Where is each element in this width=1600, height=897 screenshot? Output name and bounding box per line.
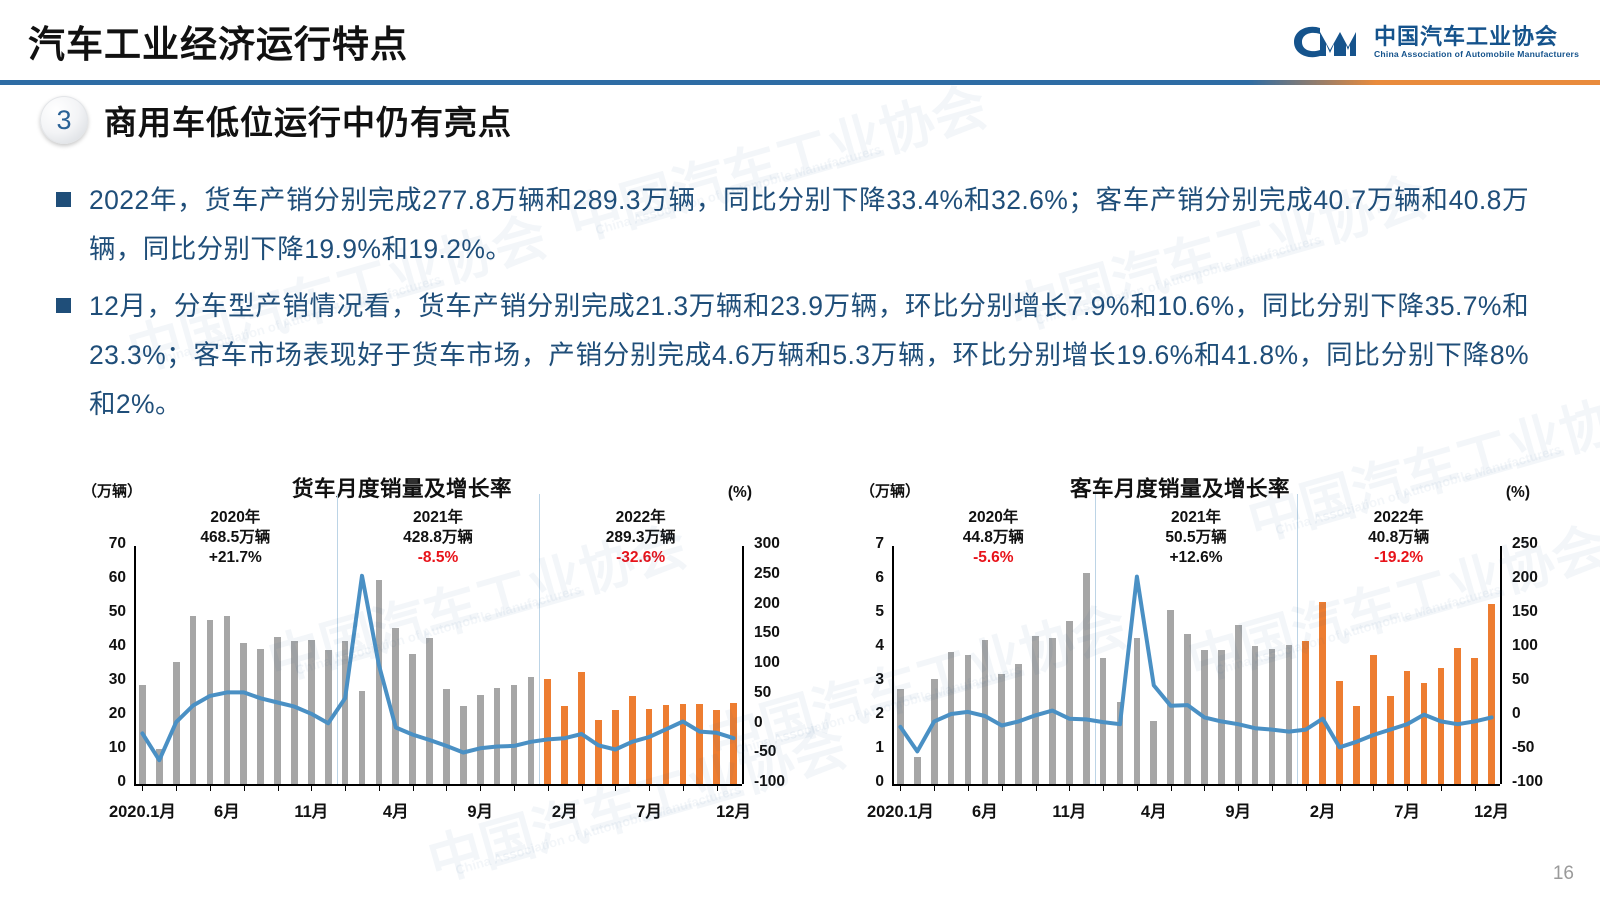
section-number-badge: 3 <box>40 96 88 144</box>
annotation-growth: +12.6% <box>1116 548 1276 568</box>
annotation-growth: -8.5% <box>358 548 518 568</box>
annotation-year: 2020年 <box>155 508 315 528</box>
x-axis-tick <box>480 785 481 791</box>
y-axis-tick-label: 3 <box>840 671 884 689</box>
x-axis-tick <box>1171 785 1172 791</box>
y2-axis-tick-label: -50 <box>1512 739 1568 757</box>
year-annotation: 2022年40.8万辆-19.2% <box>1319 508 1479 567</box>
caam-logo: 中国汽车工业协会 China Association of Automobile… <box>1290 12 1580 72</box>
chart-left-unit-label: （万辆） <box>860 480 920 501</box>
x-axis-tick <box>176 785 177 791</box>
year-annotation: 2022年289.3万辆-32.6% <box>561 508 721 567</box>
annotation-year: 2020年 <box>913 508 1073 528</box>
x-axis-line <box>892 784 1500 786</box>
logo-chinese-name: 中国汽车工业协会 <box>1374 25 1579 48</box>
x-axis-label: 12月 <box>1432 798 1552 822</box>
y-axis-tick-label: 6 <box>840 569 884 587</box>
growth-rate-line-series <box>892 546 1500 784</box>
x-axis-tick <box>934 785 935 791</box>
x-axis-tick <box>1441 785 1442 791</box>
x-axis-tick <box>900 785 901 791</box>
caam-logo-mark <box>1290 20 1364 64</box>
bullet-marker-icon <box>56 298 71 313</box>
bullet-text: 12月，分车型产销情况看，货车产销分别完成21.3万辆和23.9万辆，环比分别增… <box>89 282 1529 429</box>
chart-right-unit-label: (%) <box>728 484 752 502</box>
annotation-total: 468.5万辆 <box>155 528 315 548</box>
list-item: 12月，分车型产销情况看，货车产销分别完成21.3万辆和23.9万辆，环比分别增… <box>56 282 1556 429</box>
list-item: 2022年，货车产销分别完成277.8万辆和289.3万辆，同比分别下降33.4… <box>56 176 1556 274</box>
x-axis-tick <box>649 785 650 791</box>
page-number: 16 <box>1553 863 1574 885</box>
x-axis-tick <box>582 785 583 791</box>
x-axis-tick <box>311 785 312 791</box>
year-annotation: 2021年428.8万辆-8.5% <box>358 508 518 567</box>
y2-axis-tick-label: 200 <box>1512 569 1568 587</box>
y2-axis-line <box>1500 546 1502 784</box>
y-axis-tick-label: 2 <box>840 705 884 723</box>
annotation-growth: -5.6% <box>913 548 1073 568</box>
annotation-total: 50.5万辆 <box>1116 528 1276 548</box>
annotation-year: 2022年 <box>561 508 721 528</box>
chart-bus-monthly-sales: 客车月度销量及增长率（万辆）(%)01234567-100-5005010015… <box>800 468 1560 840</box>
page-title: 汽车工业经济运行特点 <box>28 14 408 68</box>
y-axis-tick-label: 50 <box>82 603 126 621</box>
x-axis-tick <box>345 785 346 791</box>
x-axis-tick <box>615 785 616 791</box>
x-axis-tick <box>968 785 969 791</box>
x-axis-tick <box>1238 785 1239 791</box>
x-axis-tick <box>1069 785 1070 791</box>
x-axis-tick <box>1407 785 1408 791</box>
annotation-year: 2022年 <box>1319 508 1479 528</box>
y2-axis-tick-label: 100 <box>1512 637 1568 655</box>
y2-axis-tick-label: 0 <box>1512 705 1568 723</box>
x-axis-tick <box>1137 785 1138 791</box>
x-axis-tick <box>244 785 245 791</box>
y-axis-tick-label: 7 <box>840 535 884 553</box>
y-axis-tick-label: 0 <box>840 773 884 791</box>
y2-axis-line <box>742 546 744 784</box>
x-axis-tick <box>548 785 549 791</box>
x-axis-tick <box>379 785 380 791</box>
x-axis-tick <box>413 785 414 791</box>
x-axis-tick <box>210 785 211 791</box>
x-axis-line <box>134 784 742 786</box>
y-axis-tick-label: 30 <box>82 671 126 689</box>
annotation-total: 40.8万辆 <box>1319 528 1479 548</box>
x-axis-tick <box>1002 785 1003 791</box>
chart-left-unit-label: （万辆） <box>82 480 142 501</box>
bullet-text: 2022年，货车产销分别完成277.8万辆和289.3万辆，同比分别下降33.4… <box>89 176 1529 274</box>
y-axis-tick-label: 10 <box>82 739 126 757</box>
bullet-list: 2022年，货车产销分别完成277.8万辆和289.3万辆，同比分别下降33.4… <box>56 176 1556 437</box>
chart-right-unit-label: (%) <box>1506 484 1530 502</box>
y2-axis-tick-label: -100 <box>1512 773 1568 791</box>
x-axis-tick <box>1373 785 1374 791</box>
y-axis-tick-label: 70 <box>82 535 126 553</box>
x-axis-tick <box>1204 785 1205 791</box>
y-axis-tick-label: 1 <box>840 739 884 757</box>
y2-axis-tick-label: 250 <box>1512 535 1568 553</box>
x-axis-label: 12月 <box>674 798 794 822</box>
annotation-growth: -32.6% <box>561 548 721 568</box>
x-axis-tick <box>1036 785 1037 791</box>
section-heading: 3 商用车低位运行中仍有亮点 <box>40 96 512 144</box>
x-axis-tick <box>514 785 515 791</box>
annotation-total: 44.8万辆 <box>913 528 1073 548</box>
y-axis-tick-label: 60 <box>82 569 126 587</box>
chart-truck-monthly-sales: 货车月度销量及增长率（万辆）(%)010203040506070-100-500… <box>22 468 782 840</box>
y2-axis-tick-label: 150 <box>1512 603 1568 621</box>
annotation-growth: +21.7% <box>155 548 315 568</box>
x-axis-tick <box>1340 785 1341 791</box>
logo-english-name: China Association of Automobile Manufact… <box>1374 49 1579 59</box>
section-title: 商用车低位运行中仍有亮点 <box>104 96 512 144</box>
annotation-year: 2021年 <box>1116 508 1276 528</box>
annotation-growth: -19.2% <box>1319 548 1479 568</box>
y-axis-tick-label: 5 <box>840 603 884 621</box>
growth-rate-line-series <box>134 546 742 784</box>
x-axis-tick <box>1103 785 1104 791</box>
bullet-marker-icon <box>56 192 71 207</box>
x-axis-tick <box>683 785 684 791</box>
y-axis-tick-label: 4 <box>840 637 884 655</box>
x-axis-tick <box>142 785 143 791</box>
year-annotation: 2020年44.8万辆-5.6% <box>913 508 1073 567</box>
year-annotation: 2020年468.5万辆+21.7% <box>155 508 315 567</box>
x-axis-tick <box>717 785 718 791</box>
y-axis-tick-label: 20 <box>82 705 126 723</box>
x-axis-tick <box>1306 785 1307 791</box>
y-axis-tick-label: 40 <box>82 637 126 655</box>
x-axis-tick <box>1272 785 1273 791</box>
header-divider <box>0 80 1600 85</box>
y-axis-tick-label: 0 <box>82 773 126 791</box>
x-axis-tick <box>446 785 447 791</box>
annotation-year: 2021年 <box>358 508 518 528</box>
x-axis-tick <box>1475 785 1476 791</box>
year-annotation: 2021年50.5万辆+12.6% <box>1116 508 1276 567</box>
annotation-total: 428.8万辆 <box>358 528 518 548</box>
annotation-total: 289.3万辆 <box>561 528 721 548</box>
y2-axis-tick-label: 50 <box>1512 671 1568 689</box>
x-axis-tick <box>278 785 279 791</box>
